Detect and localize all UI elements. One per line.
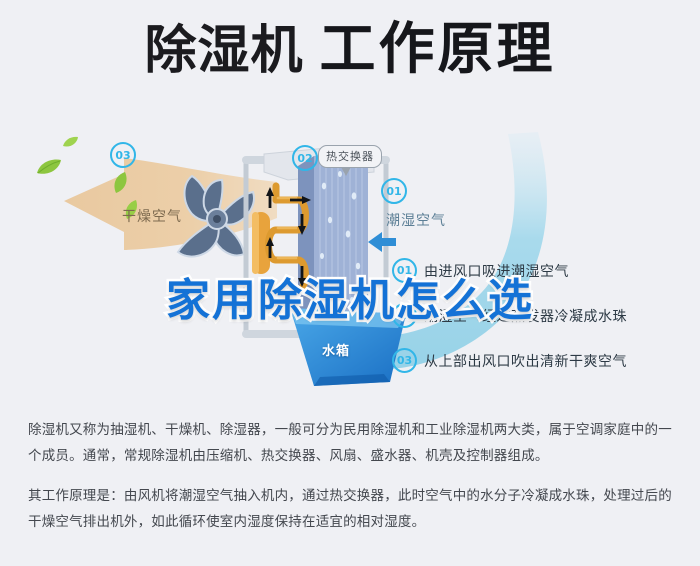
body-copy: 除湿机又称为抽湿机、干燥机、除湿器，一般可分为民用除湿机和工业除湿机两大类，属于… (28, 417, 676, 549)
list-item: 02 潮湿空气经过蒸发器冷凝成水珠 (392, 303, 692, 328)
step-badge: 02 (392, 303, 417, 328)
paragraph-principle: 其工作原理是：由风机将潮湿空气抽入机内，通过热交换器，此时空气中的水分子冷凝成水… (28, 483, 676, 535)
step-list: 01 由进风口吸进潮湿空气 02 潮湿空气经过蒸发器冷凝成水珠 03 从上部出风… (392, 258, 692, 393)
step-text: 由进风口吸进潮湿空气 (424, 261, 569, 281)
humid-air-label: 潮湿空气 (386, 210, 446, 230)
heat-exchanger-callout: 热交换器 (318, 145, 382, 168)
paragraph-definition: 除湿机又称为抽湿机、干燥机、除湿器，一般可分为民用除湿机和工业除湿机两大类，属于… (28, 417, 676, 469)
diagram-badge-humid-air: 01 (381, 178, 407, 204)
step-badge: 03 (392, 348, 417, 373)
list-item: 03 从上部出风口吹出清新干爽空气 (392, 348, 692, 373)
leaf-icon (36, 158, 62, 176)
water-tank-label: 水箱 (322, 340, 350, 359)
list-item: 01 由进风口吸进潮湿空气 (392, 258, 692, 283)
leaf-icon (112, 172, 130, 194)
step-text: 潮湿空气经过蒸发器冷凝成水珠 (424, 306, 627, 326)
leaf-icon (62, 136, 79, 148)
step-text: 从上部出风口吹出清新干爽空气 (424, 351, 627, 371)
diagram-badge-heat-exchanger: 02 (292, 145, 318, 171)
step-badge: 01 (392, 258, 417, 283)
title-part-primary: 除湿机 (144, 25, 303, 77)
diagram-badge-dry-air: 03 (110, 142, 136, 168)
infographic-page: 除湿机 工作原理 (0, 0, 700, 566)
title-part-secondary: 工作原理 (320, 22, 556, 78)
page-title: 除湿机 工作原理 (0, 22, 700, 78)
dry-air-label: 干燥空气 (122, 206, 182, 226)
